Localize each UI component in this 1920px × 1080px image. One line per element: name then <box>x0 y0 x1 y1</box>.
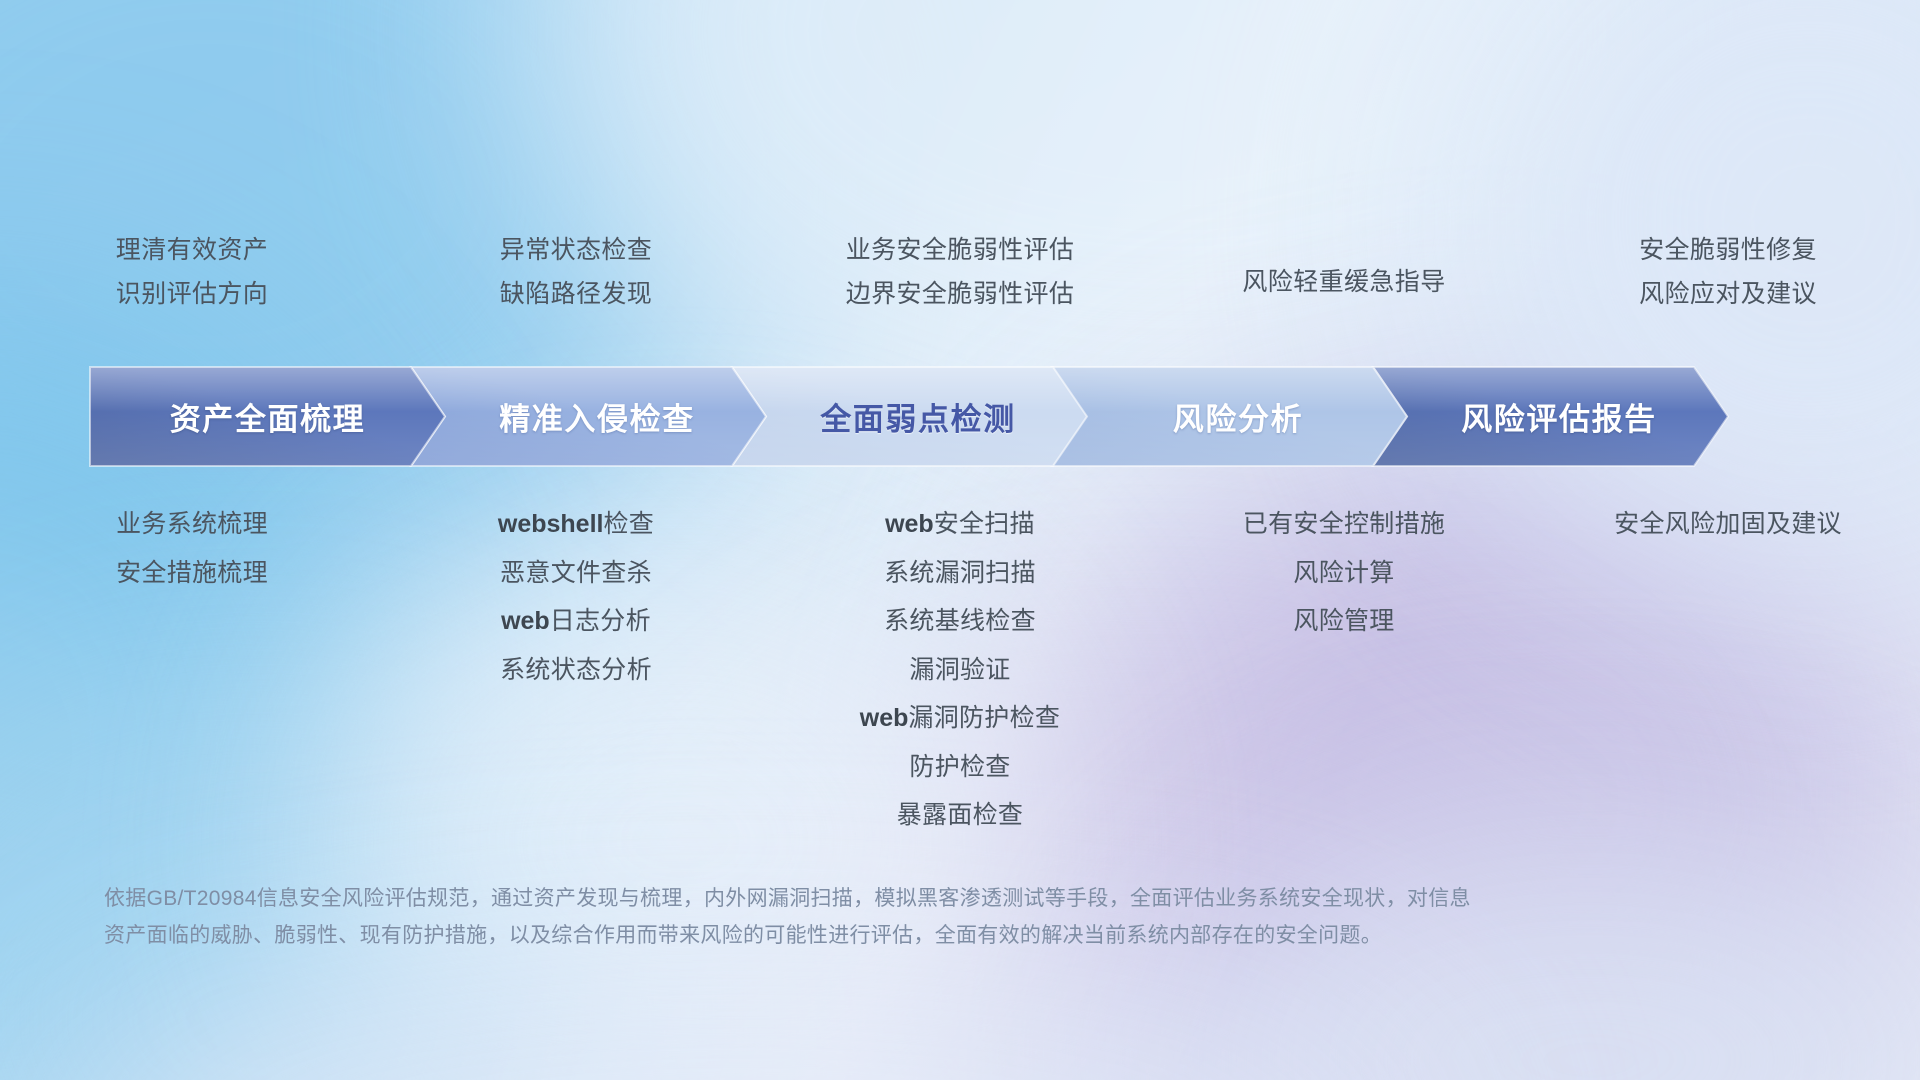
footer-line-1: 依据GB/T20984信息安全风险评估规范，通过资产发现与梳理，内外网漏洞扫描，… <box>104 880 1634 917</box>
top-annotation-line: 异常状态检查 <box>500 228 652 272</box>
detail-item: 系统基线检查 <box>884 597 1036 646</box>
top-annotations-asset-inventory: 理清有效资产识别评估方向 <box>0 228 384 338</box>
process-diagram: 理清有效资产识别评估方向异常状态检查缺陷路径发现业务安全脆弱性评估边界安全脆弱性… <box>0 0 1920 1080</box>
detail-item-keyword: webshell <box>498 510 604 538</box>
bottom-details-weakness-detection: web安全扫描系统漏洞扫描系统基线检查漏洞验证web漏洞防护检查防护检查暴露面检… <box>768 500 1152 840</box>
bottom-details-asset-inventory: 业务系统梳理安全措施梳理 <box>0 500 384 597</box>
stage-chevron-risk-analysis[interactable]: 风险分析 <box>1052 367 1407 466</box>
detail-item: web漏洞防护检查 <box>860 694 1060 743</box>
footer-line-2: 资产面临的威胁、脆弱性、现有防护措施，以及综合作用而带来风险的可能性进行评估，全… <box>104 917 1634 954</box>
stage-chevron-band: 资产全面梳理精准入侵检查全面弱点检测风险分析风险评估报告 <box>90 367 1830 466</box>
detail-item-text: 安全扫描 <box>934 510 1035 538</box>
stage-chevron-weakness-detection[interactable]: 全面弱点检测 <box>732 367 1087 466</box>
top-annotations-weakness-detection: 业务安全脆弱性评估边界安全脆弱性评估 <box>768 228 1152 338</box>
detail-item-keyword: web <box>860 704 909 732</box>
top-annotation-line: 风险轻重缓急指导 <box>1242 260 1445 304</box>
top-annotation-line: 安全脆弱性修复 <box>1639 228 1817 272</box>
bottom-details-intrusion-check: webshell检查恶意文件查杀web日志分析系统状态分析 <box>384 500 768 694</box>
detail-item: 防护检查 <box>909 743 1010 792</box>
detail-item: 安全措施梳理 <box>116 549 268 598</box>
top-annotation-line: 识别评估方向 <box>116 272 268 316</box>
detail-item: 系统状态分析 <box>500 646 652 695</box>
detail-item: 暴露面检查 <box>897 791 1024 840</box>
stage-chevron-risk-report[interactable]: 风险评估报告 <box>1373 367 1728 466</box>
top-annotation-line: 缺陷路径发现 <box>500 272 652 316</box>
detail-item-text: 漏洞防护检查 <box>908 704 1060 732</box>
top-annotations-risk-report: 安全脆弱性修复风险应对及建议 <box>1536 228 1920 338</box>
detail-item: 风险管理 <box>1293 597 1394 646</box>
top-annotation-line: 风险应对及建议 <box>1639 272 1817 316</box>
bottom-details-row: 业务系统梳理安全措施梳理webshell检查恶意文件查杀web日志分析系统状态分… <box>0 500 1920 830</box>
detail-item-keyword: web <box>885 510 934 538</box>
detail-item: 安全风险加固及建议 <box>1614 500 1842 549</box>
top-annotation-line: 理清有效资产 <box>116 228 268 272</box>
stage-title: 精准入侵检查 <box>499 394 695 439</box>
stage-title: 风险评估报告 <box>1461 394 1657 439</box>
detail-item: 业务系统梳理 <box>116 500 268 549</box>
detail-item: 风险计算 <box>1293 549 1394 598</box>
detail-item: 已有安全控制措施 <box>1243 500 1445 549</box>
stage-chevron-intrusion-check[interactable]: 精准入侵检查 <box>411 367 766 466</box>
stage-chevron-asset-inventory[interactable]: 资产全面梳理 <box>90 367 445 466</box>
stage-title: 资产全面梳理 <box>170 394 366 439</box>
top-annotations-row: 理清有效资产识别评估方向异常状态检查缺陷路径发现业务安全脆弱性评估边界安全脆弱性… <box>0 228 1920 338</box>
detail-item: 漏洞验证 <box>909 646 1010 695</box>
detail-item: 系统漏洞扫描 <box>884 549 1036 598</box>
top-annotations-risk-analysis: 风险轻重缓急指导 <box>1152 228 1536 338</box>
stage-title: 全面弱点检测 <box>820 394 1016 439</box>
bottom-details-risk-report: 安全风险加固及建议 <box>1536 500 1920 549</box>
bottom-details-risk-analysis: 已有安全控制措施风险计算风险管理 <box>1152 500 1536 646</box>
detail-item-text: 日志分析 <box>550 607 651 635</box>
detail-item: web安全扫描 <box>885 500 1035 549</box>
detail-item: web日志分析 <box>501 597 651 646</box>
top-annotation-line: 业务安全脆弱性评估 <box>846 228 1075 272</box>
footer-description: 依据GB/T20984信息安全风险评估规范，通过资产发现与梳理，内外网漏洞扫描，… <box>104 880 1634 954</box>
top-annotation-line: 边界安全脆弱性评估 <box>846 272 1075 316</box>
detail-item-text: 检查 <box>603 510 654 538</box>
detail-item: webshell检查 <box>498 500 654 549</box>
detail-item: 恶意文件查杀 <box>500 549 652 598</box>
detail-item-keyword: web <box>501 607 550 635</box>
top-annotations-intrusion-check: 异常状态检查缺陷路径发现 <box>384 228 768 338</box>
stage-title: 风险分析 <box>1173 394 1303 439</box>
